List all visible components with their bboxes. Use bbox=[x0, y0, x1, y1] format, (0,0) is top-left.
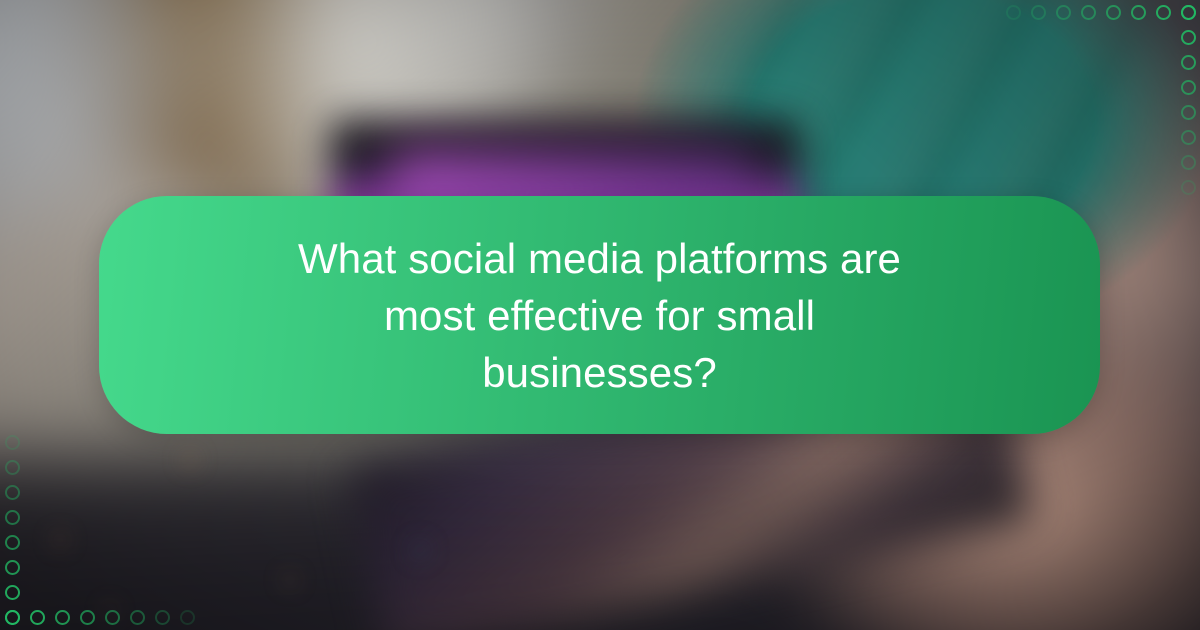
decorative-circle bbox=[1181, 5, 1196, 20]
decorative-circle bbox=[1181, 105, 1196, 120]
decorative-circle bbox=[1106, 5, 1121, 20]
decorative-circle bbox=[5, 435, 20, 450]
decorative-circle bbox=[1181, 30, 1196, 45]
decorative-circle bbox=[5, 460, 20, 475]
decorative-circle bbox=[105, 610, 120, 625]
decorative-circle bbox=[80, 610, 95, 625]
decorative-circles-top-right bbox=[1006, 5, 1196, 20]
decorative-circles-bottom-left bbox=[5, 610, 195, 625]
decorative-circle bbox=[1181, 55, 1196, 70]
decorative-circle bbox=[1181, 180, 1196, 195]
decorative-circle bbox=[1031, 5, 1046, 20]
decorative-circle bbox=[5, 585, 20, 600]
question-text: What social media platforms are most eff… bbox=[230, 230, 970, 401]
decorative-circle bbox=[1156, 5, 1171, 20]
decorative-circle bbox=[130, 610, 145, 625]
decorative-circle bbox=[5, 610, 20, 625]
decorative-circles-right bbox=[1181, 5, 1196, 195]
decorative-circle bbox=[1181, 130, 1196, 145]
social-card-canvas: What social media platforms are most eff… bbox=[0, 0, 1200, 630]
decorative-circle bbox=[180, 610, 195, 625]
decorative-circle bbox=[1056, 5, 1071, 20]
decorative-circle bbox=[5, 485, 20, 500]
decorative-circle bbox=[5, 560, 20, 575]
decorative-circle bbox=[1131, 5, 1146, 20]
decorative-circle bbox=[1181, 80, 1196, 95]
decorative-circle bbox=[30, 610, 45, 625]
decorative-circle bbox=[1181, 155, 1196, 170]
decorative-circle bbox=[155, 610, 170, 625]
decorative-circles-left bbox=[5, 435, 20, 625]
decorative-circle bbox=[5, 535, 20, 550]
decorative-circle bbox=[1081, 5, 1096, 20]
decorative-circle bbox=[55, 610, 70, 625]
decorative-circle bbox=[1006, 5, 1021, 20]
question-card: What social media platforms are most eff… bbox=[99, 196, 1100, 434]
decorative-circle bbox=[5, 510, 20, 525]
